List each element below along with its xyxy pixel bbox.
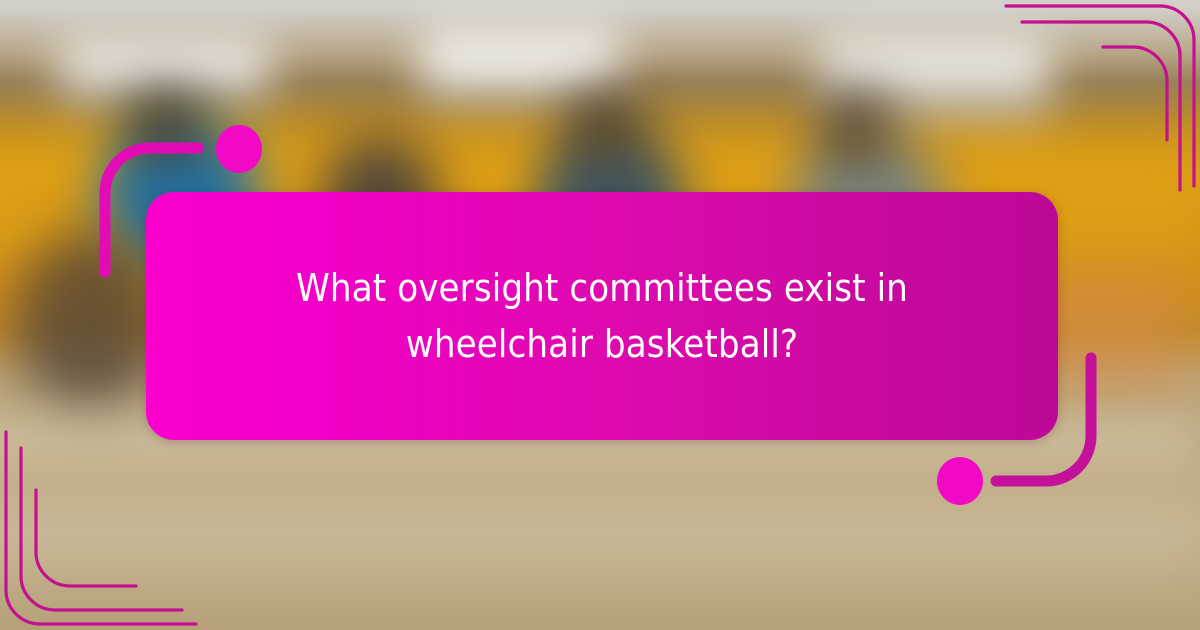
top-left-dot: [216, 125, 262, 173]
question-card: What oversight committees exist in wheel…: [146, 192, 1058, 440]
bottom-right-dot: [937, 457, 983, 505]
bottom-left-lines: [6, 432, 196, 624]
social-card-canvas: What oversight committees exist in wheel…: [0, 0, 1200, 630]
question-title: What oversight committees exist in wheel…: [282, 260, 922, 372]
top-right-lines: [1006, 6, 1194, 190]
